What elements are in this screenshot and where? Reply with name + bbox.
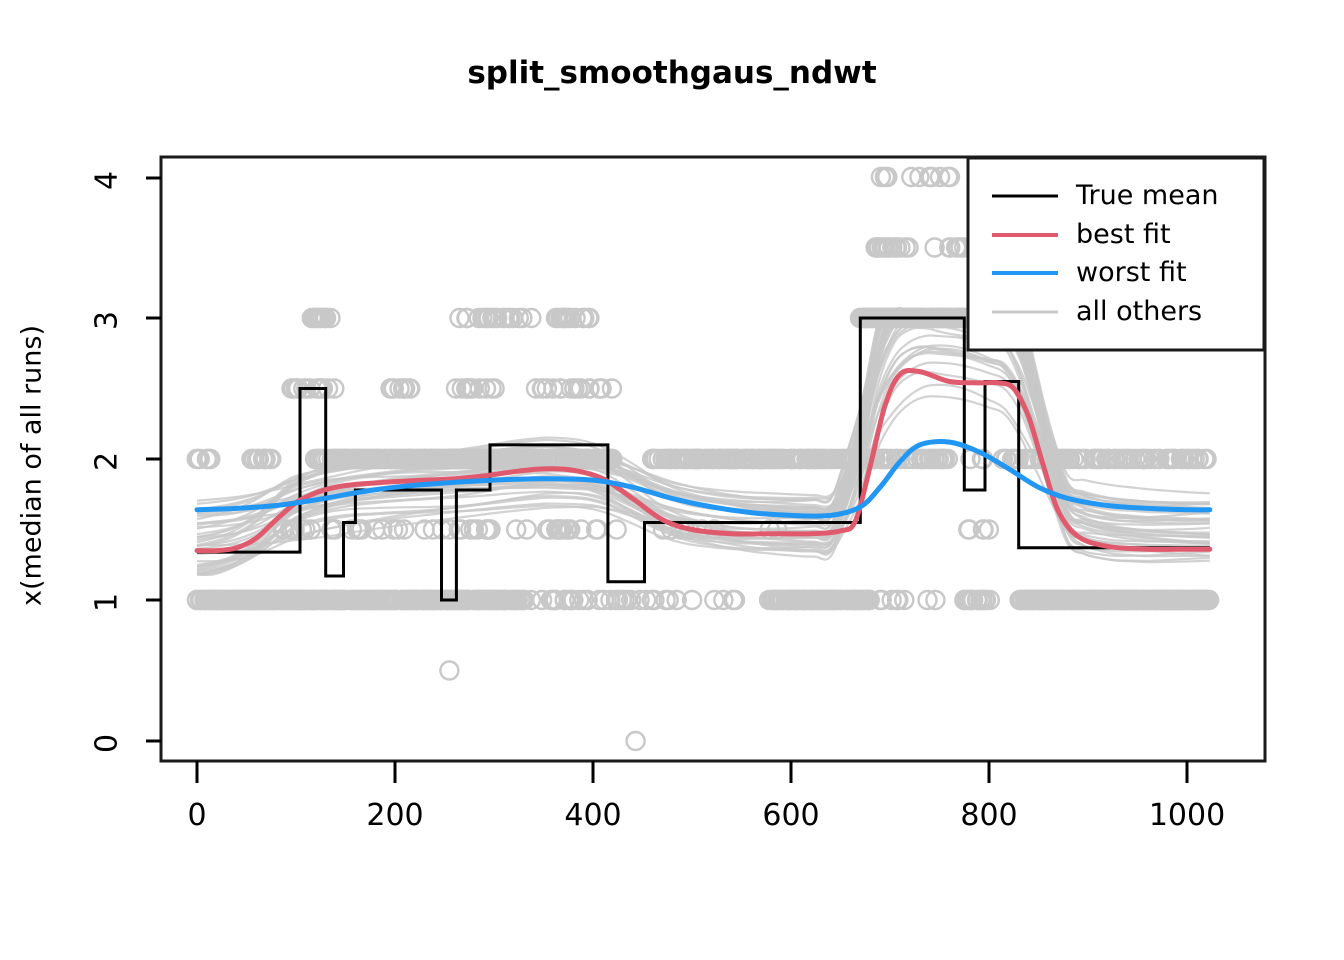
scatter-point	[440, 662, 458, 680]
ytick-label-0: 0	[90, 724, 125, 764]
chart-figure: split_smoothgaus_ndwt x(median of all ru…	[0, 0, 1344, 960]
y-axis-ticks	[146, 178, 161, 741]
xtick-label-800: 800	[960, 798, 1017, 833]
legend-item-worst-fit: worst fit	[1076, 257, 1187, 288]
legend-item-all-others: all others	[1076, 296, 1202, 327]
scatter-point	[507, 521, 525, 539]
xtick-label-400: 400	[564, 798, 621, 833]
scatter-point	[608, 521, 626, 539]
xtick-label-600: 600	[762, 798, 819, 833]
ytick-label-1: 1	[90, 583, 125, 623]
xtick-label-1000: 1000	[1149, 798, 1225, 833]
scatter-point	[627, 732, 645, 750]
legend-item-best-fit: best fit	[1076, 219, 1171, 250]
scatter-point	[603, 380, 621, 398]
xtick-label-200: 200	[366, 798, 423, 833]
ytick-label-3: 3	[90, 301, 125, 341]
ytick-label-4: 4	[90, 161, 125, 201]
x-axis-ticks	[197, 761, 1187, 783]
ytick-label-2: 2	[90, 442, 125, 482]
scatter-point	[518, 521, 536, 539]
xtick-label-0: 0	[187, 798, 206, 833]
legend-item-true-mean: True mean	[1076, 180, 1219, 211]
